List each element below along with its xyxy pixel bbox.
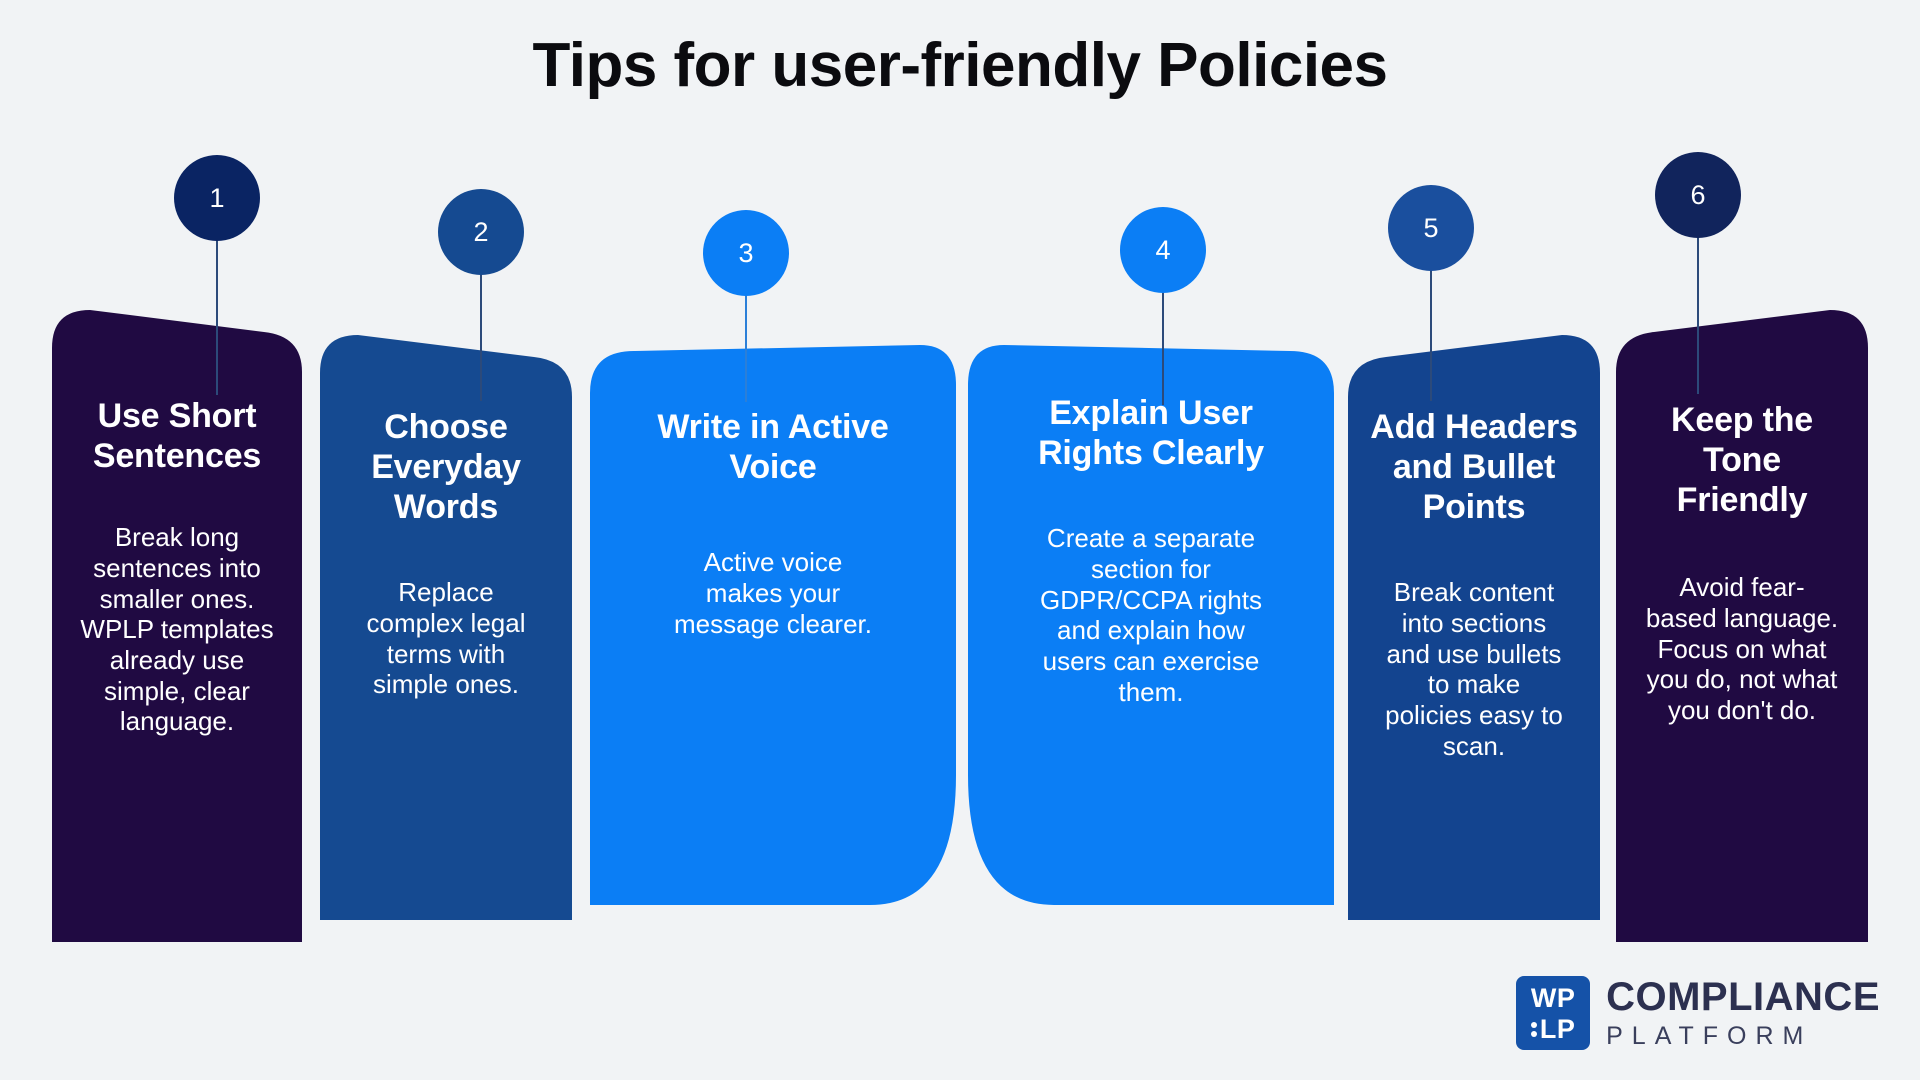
step-pin-5-number: 5 <box>1423 215 1438 242</box>
tip-card-3-body: Active voice makes your message clearer. <box>674 547 872 639</box>
step-pin-3-number: 3 <box>738 240 753 267</box>
tip-card-6[interactable]: Keep the Tone Friendly Avoid fear- based… <box>1616 310 1868 942</box>
tip-card-1-body: Break long sentences into smaller ones. … <box>80 522 273 737</box>
colon-dots-icon <box>1531 1022 1537 1037</box>
infographic-canvas: Tips for user-friendly Policies Use Shor… <box>0 0 1920 1080</box>
step-pin-2-circle: 2 <box>438 189 524 275</box>
brand-word-platform: PLATFORM <box>1606 1024 1880 1049</box>
step-pin-3-circle: 3 <box>703 210 789 296</box>
brand-word-compliance: COMPLIANCE <box>1606 977 1880 1017</box>
tip-card-6-title: Keep the Tone Friendly <box>1671 400 1813 520</box>
tip-card-3[interactable]: Write in Active Voice Active voice makes… <box>590 345 956 905</box>
brand-wordmark: COMPLIANCE PLATFORM <box>1606 977 1880 1049</box>
tip-card-1[interactable]: Use Short Sentences Break long sentences… <box>52 310 302 942</box>
tip-card-6-body: Avoid fear- based language. Focus on wha… <box>1646 572 1838 725</box>
step-pin-1-circle: 1 <box>174 155 260 241</box>
page-title: Tips for user-friendly Policies <box>0 30 1920 101</box>
tip-card-5-body: Break content into sections and use bull… <box>1385 577 1563 761</box>
brand-logo[interactable]: WP LP COMPLIANCE PLATFORM <box>1516 976 1880 1050</box>
tip-card-5-title: Add Headers and Bullet Points <box>1370 407 1578 527</box>
wplp-logo-lp: LP <box>1540 1016 1576 1043</box>
step-pin-1-number: 1 <box>209 185 224 212</box>
step-pin-5-circle: 5 <box>1388 185 1474 271</box>
step-pin-2-number: 2 <box>473 219 488 246</box>
tip-card-2[interactable]: Choose Everyday Words Replace complex le… <box>320 335 572 920</box>
tip-card-2-body: Replace complex legal terms with simple … <box>367 577 526 700</box>
tip-card-1-title: Use Short Sentences <box>93 396 261 476</box>
tip-card-3-title: Write in Active Voice <box>657 407 888 487</box>
tip-card-4[interactable]: Explain User Rights Clearly Create a sep… <box>968 345 1334 905</box>
tip-card-5[interactable]: Add Headers and Bullet Points Break cont… <box>1348 335 1600 920</box>
tip-card-4-body: Create a separate section for GDPR/CCPA … <box>1040 523 1262 707</box>
step-pin-6-circle: 6 <box>1655 152 1741 238</box>
wplp-logo-lp-row: LP <box>1531 1016 1576 1043</box>
tip-card-4-title: Explain User Rights Clearly <box>1038 393 1264 473</box>
wplp-logo-mark: WP LP <box>1516 976 1590 1050</box>
wplp-logo-wp: WP <box>1531 985 1576 1012</box>
step-pin-6-number: 6 <box>1690 182 1705 209</box>
step-pin-4-number: 4 <box>1155 237 1170 264</box>
tip-card-2-title: Choose Everyday Words <box>371 407 521 527</box>
step-pin-4-circle: 4 <box>1120 207 1206 293</box>
